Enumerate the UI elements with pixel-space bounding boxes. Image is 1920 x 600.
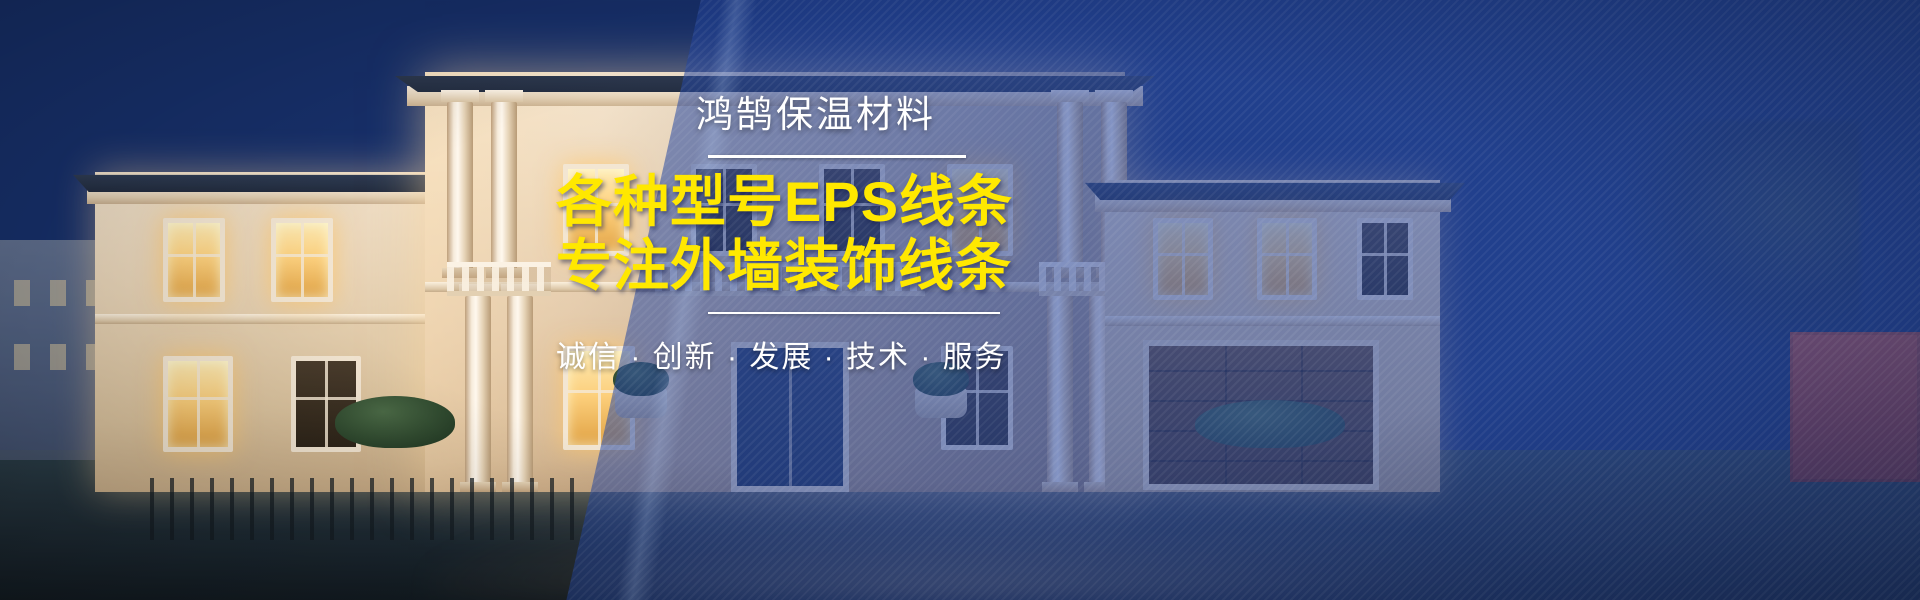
column	[465, 296, 491, 492]
column	[507, 296, 533, 492]
foreground-fence	[150, 478, 580, 540]
column-upper	[491, 102, 517, 278]
left-band	[95, 314, 437, 324]
balustrade	[447, 262, 551, 296]
hero-banner: 鸿鹄保温材料 各种型号EPS线条 专注外墙装饰线条 诚信 · 创新 · 发展 ·…	[0, 0, 1920, 600]
divider-bottom	[708, 312, 1000, 314]
headline-line-2: 专注外墙装饰线条	[556, 236, 1006, 296]
banner-text-block: 鸿鹄保温材料 各种型号EPS线条 专注外墙装饰线条 诚信 · 创新 · 发展 ·…	[556, 96, 1006, 376]
divider-top	[708, 155, 966, 158]
window-lit	[163, 356, 233, 452]
window-lit	[271, 218, 333, 302]
window-lit	[163, 218, 225, 302]
headline-line-1: 各种型号EPS线条	[556, 172, 1006, 232]
tagline: 诚信 · 创新 · 发展 · 技术 · 服务	[556, 332, 1006, 376]
brand-name: 鸿鹄保温材料	[556, 96, 1006, 135]
column-upper	[447, 102, 473, 278]
